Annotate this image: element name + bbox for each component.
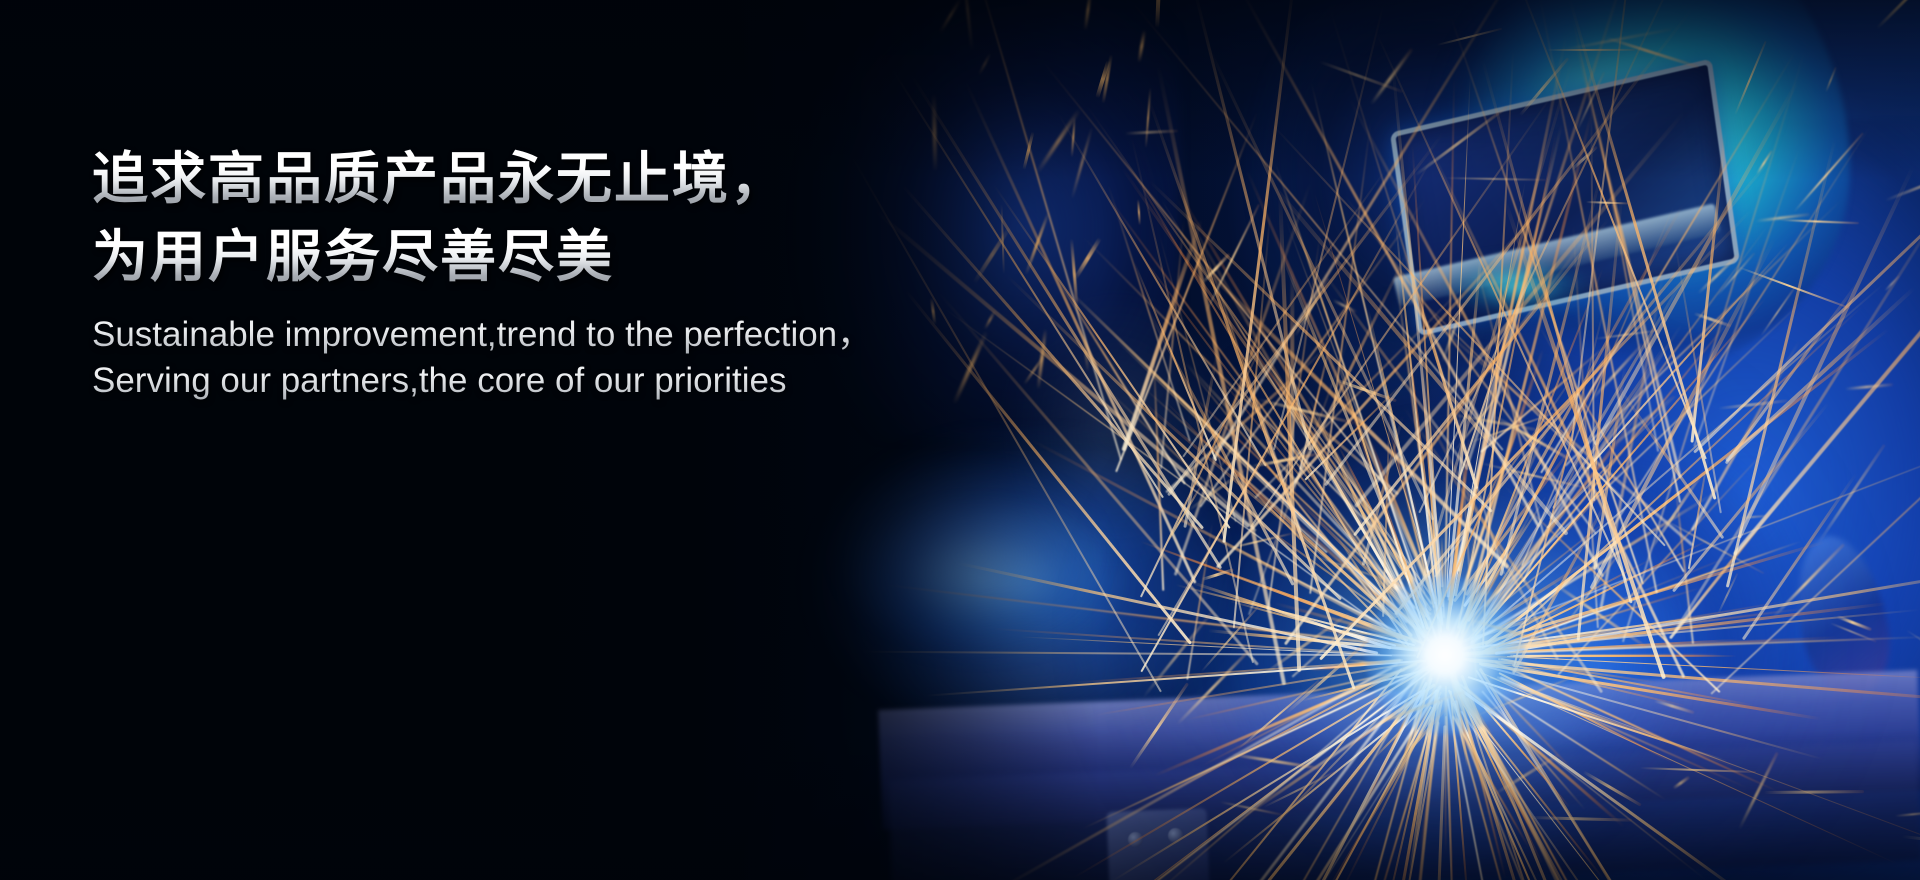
- ember: [1445, 177, 1546, 181]
- spark: [1186, 523, 1213, 680]
- ember: [1145, 87, 1152, 148]
- ember: [1793, 132, 1864, 212]
- ember: [1905, 629, 1920, 695]
- ember: [1895, 811, 1920, 816]
- subheadline-line-2: Serving our partners,the core of our pri…: [92, 356, 992, 406]
- smoke-wisp: [1010, 300, 1220, 560]
- ember: [1902, 835, 1920, 850]
- smoke-wisp: [880, 600, 1180, 740]
- ember: [1780, 219, 1859, 224]
- ember: [1084, 0, 1092, 30]
- ember: [1001, 204, 1006, 274]
- ember: [1845, 384, 1893, 390]
- ember: [1817, 444, 1885, 544]
- ember: [1547, 49, 1635, 51]
- ember: [1137, 30, 1146, 63]
- ember: [1137, 199, 1141, 225]
- welding-photo: [0, 0, 1920, 880]
- headline-line-2: 为用户服务尽善尽美: [92, 218, 992, 296]
- banner-copy: 追求高品质产品永无止境， 为用户服务尽善尽美 Sustainable impro…: [92, 140, 992, 406]
- hero-banner: 追求高品质产品永无止境， 为用户服务尽善尽美 Sustainable impro…: [0, 0, 1920, 880]
- ember: [1825, 67, 1837, 93]
- ember: [978, 52, 992, 75]
- headline-line-1: 追求高品质产品永无止境，: [92, 140, 992, 218]
- ember: [1876, 0, 1920, 30]
- ember: [1529, 816, 1632, 822]
- welding-arc-core: [1365, 575, 1525, 735]
- ember: [939, 0, 962, 33]
- ember: [1155, 0, 1161, 28]
- ember: [962, 0, 974, 51]
- subheadline-line-1: Sustainable improvement,trend to the per…: [92, 310, 992, 360]
- ember: [1764, 790, 1864, 794]
- spark-field: [0, 0, 1920, 880]
- ember: [1672, 776, 1690, 790]
